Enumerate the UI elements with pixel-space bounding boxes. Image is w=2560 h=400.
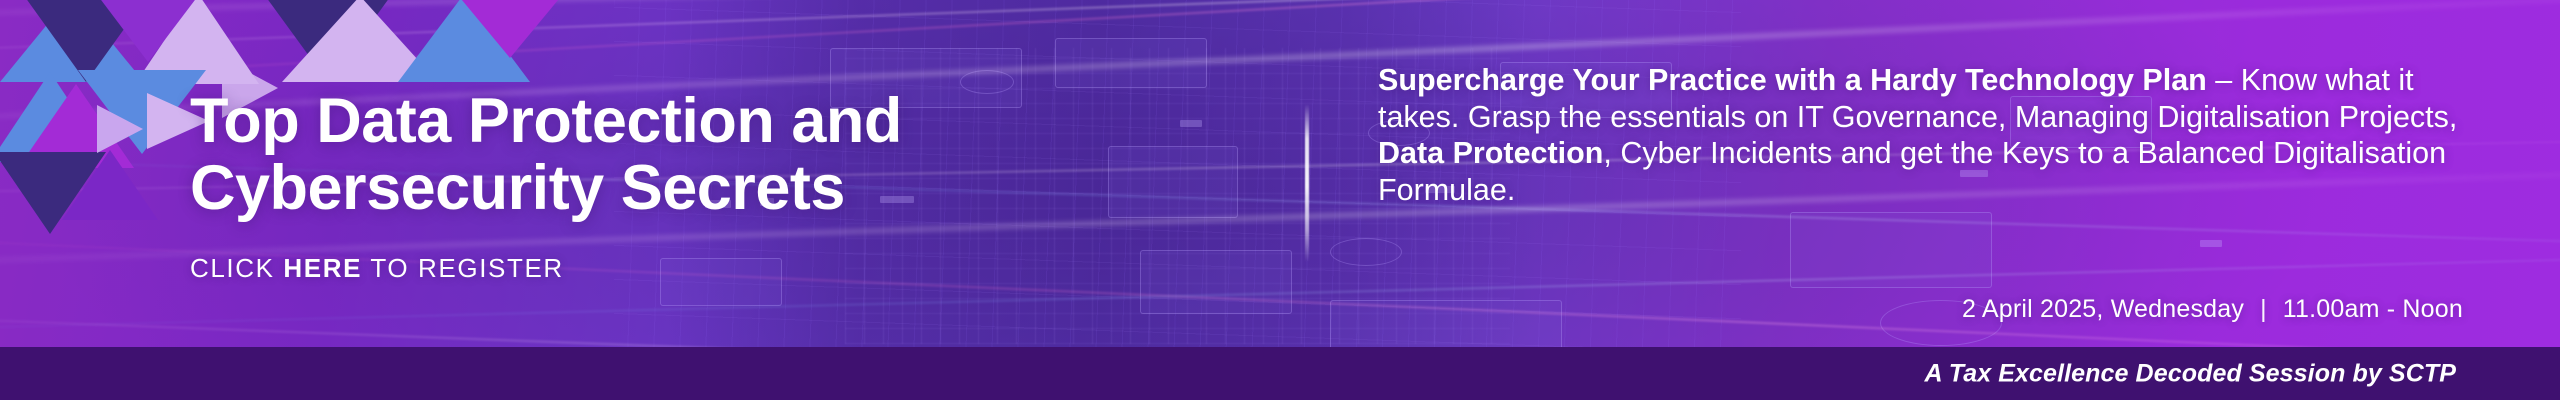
- cta-suffix-label: TO REGISTER: [362, 253, 564, 283]
- event-datetime: 2 April 2025, Wednesday|11.00am - Noon: [1378, 295, 2463, 324]
- cta-prefix-label: CLICK: [190, 253, 283, 283]
- description-bold-lede: Supercharge Your Practice with a Hardy T…: [1378, 63, 2207, 97]
- headline-line-2: Cybersecurity Secrets: [190, 155, 1250, 222]
- page-title: Top Data Protection and Cybersecurity Se…: [190, 88, 1250, 223]
- event-description: Supercharge Your Practice with a Hardy T…: [1378, 62, 2463, 208]
- cta-emphasis-label: HERE: [283, 253, 362, 283]
- register-cta-link[interactable]: CLICK HERE TO REGISTER: [190, 253, 1250, 284]
- right-content-column: Supercharge Your Practice with a Hardy T…: [1378, 62, 2463, 208]
- footer-session-label: A Tax Excellence Decoded Session by SCTP: [1924, 359, 2456, 388]
- event-date: 2 April 2025, Wednesday: [1962, 295, 2244, 323]
- event-time: 11.00am - Noon: [2283, 295, 2463, 323]
- datetime-separator: |: [2244, 295, 2283, 324]
- headline-line-1: Top Data Protection and: [190, 88, 1250, 155]
- description-bold-topic: Data Protection: [1378, 136, 1603, 170]
- footer-bar: A Tax Excellence Decoded Session by SCTP: [0, 347, 2560, 400]
- event-promo-banner: Top Data Protection and Cybersecurity Se…: [0, 0, 2560, 400]
- left-content-column: Top Data Protection and Cybersecurity Se…: [190, 88, 1250, 284]
